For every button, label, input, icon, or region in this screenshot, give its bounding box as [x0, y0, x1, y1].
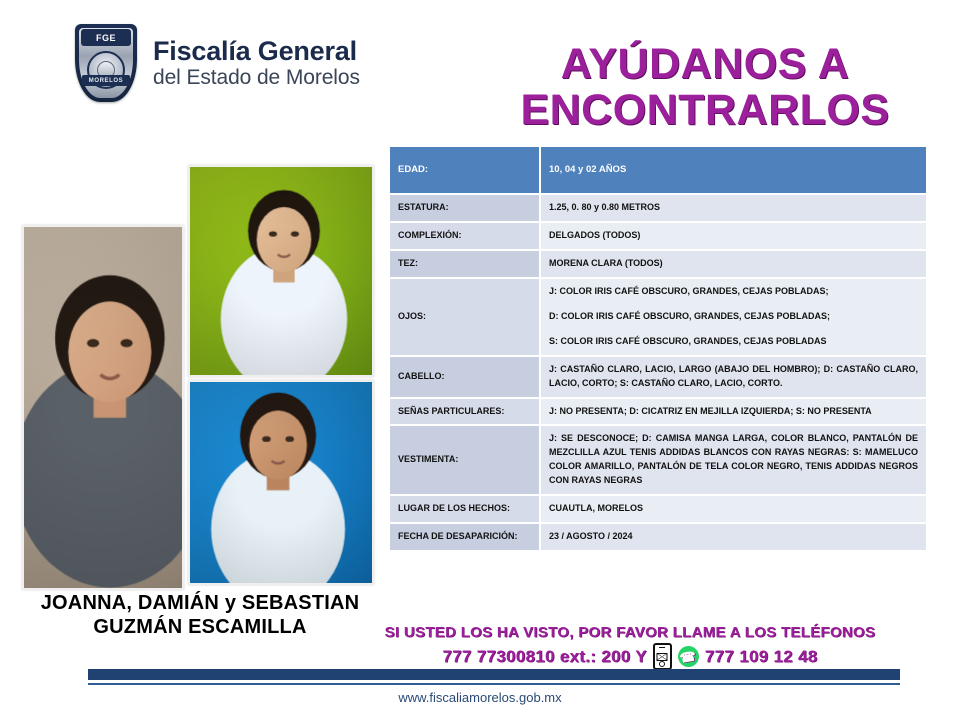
organization-name: Fiscalía General del Estado de Morelos	[153, 37, 360, 90]
shield-banner-label: MORELOS	[89, 78, 124, 84]
details-table: EDAD:10, 04 y 02 AÑOSESTATURA:1.25, 0. 8…	[390, 147, 928, 552]
table-row-label: CABELLO:	[390, 356, 540, 398]
footer-website: www.fiscaliamorelos.gob.mx	[0, 690, 960, 705]
table-row-label: TEZ:	[390, 250, 540, 278]
table-row-value: CUAUTLA, MORELOS	[540, 495, 927, 523]
table-row-label: ESTATURA:	[390, 194, 540, 222]
footer-bar-thin	[88, 683, 900, 685]
contact-block: SI USTED LOS HA VISTO, POR FAVOR LLAME A…	[340, 624, 920, 670]
table-row: COMPLEXIÓN:DELGADOS (TODOS)	[390, 222, 927, 250]
table-row-value: J: COLOR IRIS CAFÉ OBSCURO, GRANDES, CEJ…	[540, 278, 927, 356]
table-row-value: MORENA CLARA (TODOS)	[540, 250, 927, 278]
table-row-value: 23 / AGOSTO / 2024	[540, 523, 927, 551]
table-row: ESTATURA:1.25, 0. 80 y 0.80 METROS	[390, 194, 927, 222]
whatsapp-icon: ☎	[678, 646, 699, 667]
photo-damian	[188, 165, 374, 377]
photo-sebastian	[188, 380, 374, 585]
table-row-value: 10, 04 y 02 AÑOS	[540, 147, 927, 194]
table-row: SEÑAS PARTICULARES:J: NO PRESENTA; D: CI…	[390, 398, 927, 426]
shield-top-label: FGE	[96, 33, 116, 43]
table-row-label: EDAD:	[390, 147, 540, 194]
table-row-value-line: S: COLOR IRIS CAFÉ OBSCURO, GRANDES, CEJ…	[549, 335, 918, 349]
organization-logo-block: FGE MORELOS Fiscalía General del Estado …	[75, 24, 360, 102]
table-row-label: FECHA DE DESAPARICIÓN:	[390, 523, 540, 551]
contact-whatsapp-phone[interactable]: 777 109 12 48	[705, 647, 818, 667]
poster-headline: AYÚDANOS A ENCONTRARLOS	[470, 42, 940, 133]
table-row: FECHA DE DESAPARICIÓN:23 / AGOSTO / 2024	[390, 523, 927, 551]
organization-name-line2: del Estado de Morelos	[153, 67, 360, 90]
table-row-value-line: J: COLOR IRIS CAFÉ OBSCURO, GRANDES, CEJ…	[549, 285, 918, 299]
contact-instruction: SI USTED LOS HA VISTO, POR FAVOR LLAME A…	[340, 624, 920, 641]
table-row: OJOS:J: COLOR IRIS CAFÉ OBSCURO, GRANDES…	[390, 278, 927, 356]
table-row: LUGAR DE LOS HECHOS:CUAUTLA, MORELOS	[390, 495, 927, 523]
table-row-value-line: D: COLOR IRIS CAFÉ OBSCURO, GRANDES, CEJ…	[549, 310, 918, 324]
table-row-value: J: NO PRESENTA; D: CICATRIZ EN MEJILLA I…	[540, 398, 927, 426]
contact-office-phone[interactable]: 777 77300810 ext.: 200 Y	[442, 647, 646, 667]
table-row-label: OJOS:	[390, 278, 540, 356]
fge-shield-icon: FGE MORELOS	[75, 24, 137, 102]
table-row: CABELLO: J: CASTAÑO CLARO, LACIO, LARGO …	[390, 356, 927, 398]
organization-name-line1: Fiscalía General	[153, 37, 360, 66]
table-row-value: DELGADOS (TODOS)	[540, 222, 927, 250]
table-row: TEZ:MORENA CLARA (TODOS)	[390, 250, 927, 278]
missing-persons-poster: FGE MORELOS Fiscalía General del Estado …	[0, 0, 960, 720]
table-row: VESTIMENTA:J: SE DESCONOCE; D: CAMISA MA…	[390, 425, 927, 495]
phone-message-icon	[653, 643, 672, 670]
contact-numbers-row: 777 77300810 ext.: 200 Y ☎ 777 109 12 48	[340, 643, 920, 670]
photo-joanna	[22, 225, 184, 590]
table-row-value: J: SE DESCONOCE; D: CAMISA MANGA LARGA, …	[540, 425, 927, 495]
table-row-label: SEÑAS PARTICULARES:	[390, 398, 540, 426]
footer-bar	[88, 669, 900, 680]
table-row-value: 1.25, 0. 80 y 0.80 METROS	[540, 194, 927, 222]
table-row-label: VESTIMENTA:	[390, 425, 540, 495]
table-row-label: COMPLEXIÓN:	[390, 222, 540, 250]
table-row-value: J: CASTAÑO CLARO, LACIO, LARGO (ABAJO DE…	[540, 356, 927, 398]
victim-names: JOANNA, DAMIÁN y SEBASTIAN GUZMÁN ESCAMI…	[40, 592, 360, 639]
table-row-label: LUGAR DE LOS HECHOS:	[390, 495, 540, 523]
table-row: EDAD:10, 04 y 02 AÑOS	[390, 147, 927, 194]
